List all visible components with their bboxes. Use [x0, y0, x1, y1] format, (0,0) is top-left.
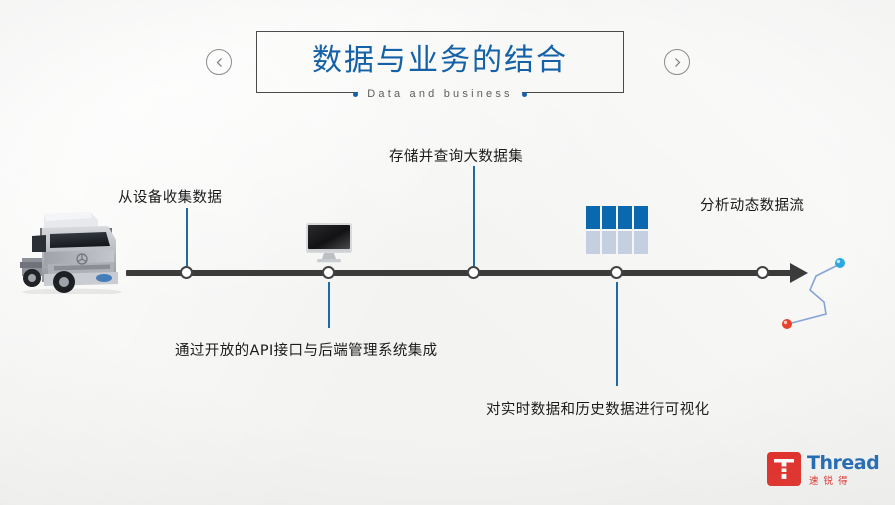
connector-integrate [328, 282, 330, 328]
page-title: 数据与业务的结合 [256, 35, 624, 79]
subtitle-row: Data and business [256, 88, 624, 100]
connector-store [473, 166, 475, 266]
prev-slide-button[interactable] [206, 49, 232, 75]
brand-logo: Thread 速锐得 [767, 450, 885, 492]
timeline-node-collect[interactable] [180, 266, 193, 279]
next-slide-button[interactable] [664, 49, 690, 75]
analytics-network-icon [772, 250, 854, 334]
logo-brand-en: Thread [807, 452, 879, 474]
truck-icon [20, 206, 132, 294]
logo-mark-icon [767, 452, 801, 486]
db-cell-top-1 [586, 206, 600, 229]
database-grid-icon [586, 206, 648, 254]
timeline-axis [126, 270, 798, 276]
timeline-node-analyze[interactable] [756, 266, 769, 279]
logo-brand-cn: 速锐得 [809, 473, 853, 487]
caption-analyze: 分析动态数据流 [700, 194, 804, 215]
db-cell-bottom-1 [586, 231, 600, 254]
subtitle-dot-left [353, 92, 358, 97]
chevron-right-icon [673, 57, 682, 68]
db-cell-top-2 [602, 206, 616, 229]
monitor-icon [305, 222, 353, 264]
slide-canvas: 数据与业务的结合 Data and business 从设备收集数据 通过开放的… [0, 0, 895, 505]
caption-store: 存储并查询大数据集 [389, 145, 523, 166]
db-cell-bottom-3 [618, 231, 632, 254]
timeline-node-visualize[interactable] [610, 266, 623, 279]
timeline-node-integrate[interactable] [322, 266, 335, 279]
caption-collect: 从设备收集数据 [118, 186, 222, 207]
db-cell-bottom-4 [634, 231, 648, 254]
logo-mark-glyph [767, 452, 801, 486]
connector-collect [186, 208, 188, 266]
title-frame-top-edge [256, 31, 624, 32]
caption-integrate: 通过开放的API接口与后端管理系统集成 [175, 339, 438, 360]
connector-visualize [616, 282, 618, 386]
caption-visualize: 对实时数据和历史数据进行可视化 [486, 398, 710, 419]
logo-wordmark: Thread 速锐得 [807, 450, 885, 490]
page-subtitle: Data and business [367, 88, 513, 100]
title-frame: 数据与业务的结合 Data and business [256, 31, 624, 93]
timeline-node-store[interactable] [467, 266, 480, 279]
db-cell-top-4 [634, 206, 648, 229]
chevron-left-icon [215, 57, 224, 68]
db-cell-top-3 [618, 206, 632, 229]
db-cell-bottom-2 [602, 231, 616, 254]
subtitle-dot-right [522, 92, 527, 97]
